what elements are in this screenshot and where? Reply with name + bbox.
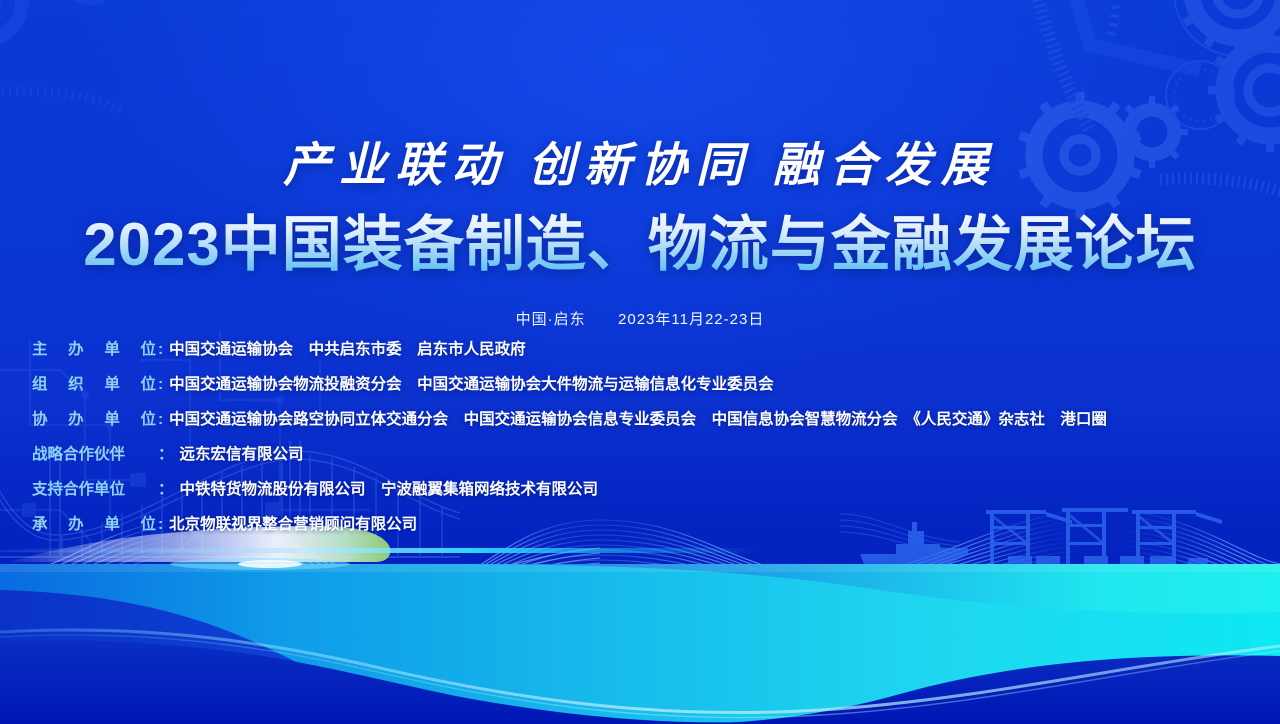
org-value: 中国交通运输协会物流投融资分会 中国交通运输协会大件物流与运输信息化专业委员会 [169,372,1262,394]
org-label-colon: : [158,376,163,394]
org-label: 战略合作伙伴 [32,442,156,464]
org-value: 北京物联视界整合营销顾问有限公司 [169,512,1262,534]
org-label-char: 位 [140,372,156,394]
org-label-char: 位 [140,512,156,534]
org-label-char: 单 [104,512,120,534]
org-label-colon: ： [158,477,174,499]
org-row: 协 办 单 位 : 中国交通运输协会路空协同立体交通分会 中国交通运输协会信息专… [32,407,1262,442]
org-row: 承 办 单 位 : 北京物联视界整合营销顾问有限公司 [32,512,1262,547]
org-label-char: 协 [32,407,48,429]
org-label: 主 办 单 位 [32,337,156,359]
org-value: 中国交通运输协会 中共启东市委 启东市人民政府 [169,337,1262,359]
poster-slogan: 产业联动 创新协同 融合发展 [0,126,1280,195]
org-value: 远东宏信有限公司 [180,442,1262,464]
org-label-colon: ： [158,442,174,464]
org-label-colon: : [158,341,163,359]
org-label-char: 承 [32,512,48,534]
org-label: 支持合作单位 [32,477,156,499]
org-label: 协 办 单 位 [32,407,156,429]
page-title: 2023中国装备制造、物流与金融发展论坛 [0,196,1280,283]
org-label-char: 单 [104,407,120,429]
organization-list: 主 办 单 位 : 中国交通运输协会 中共启东市委 启东市人民政府 组 织 单 … [32,337,1262,547]
org-row: 支持合作单位 ： 中铁特货物流股份有限公司 宁波融翼集箱网络技术有限公司 [32,477,1262,512]
org-value: 中国交通运输协会路空协同立体交通分会 中国交通运输协会信息专业委员会 中国信息协… [169,407,1262,429]
org-label-char: 办 [68,407,84,429]
org-label-char: 织 [68,372,84,394]
org-label-char: 办 [68,512,84,534]
org-row: 主 办 单 位 : 中国交通运输协会 中共启东市委 启东市人民政府 [32,337,1262,372]
org-row: 战略合作伙伴 ： 远东宏信有限公司 [32,442,1262,477]
org-label-char: 主 [32,337,48,359]
org-label: 组 织 单 位 [32,372,156,394]
org-label-colon: : [158,516,163,534]
org-label-char: 单 [104,337,120,359]
org-label-char: 组 [32,372,48,394]
org-value: 中铁特货物流股份有限公司 宁波融翼集箱网络技术有限公司 [180,477,1262,499]
org-label-char: 办 [68,337,84,359]
org-label: 承 办 单 位 [32,512,156,534]
event-date: 2023年11月22-23日 [618,311,764,328]
org-label-char: 位 [140,337,156,359]
event-location: 中国·启东 [516,311,586,328]
org-label-char: 单 [104,372,120,394]
event-subtitle: 中国·启东 2023年11月22-23日 [0,308,1280,329]
org-row: 组 织 单 位 : 中国交通运输协会物流投融资分会 中国交通运输协会大件物流与运… [32,372,1262,407]
conference-poster: 产业联动 创新协同 融合发展 2023中国装备制造、物流与金融发展论坛 中国·启… [0,0,1280,724]
org-label-char: 位 [140,407,156,429]
org-label-colon: : [158,411,163,429]
